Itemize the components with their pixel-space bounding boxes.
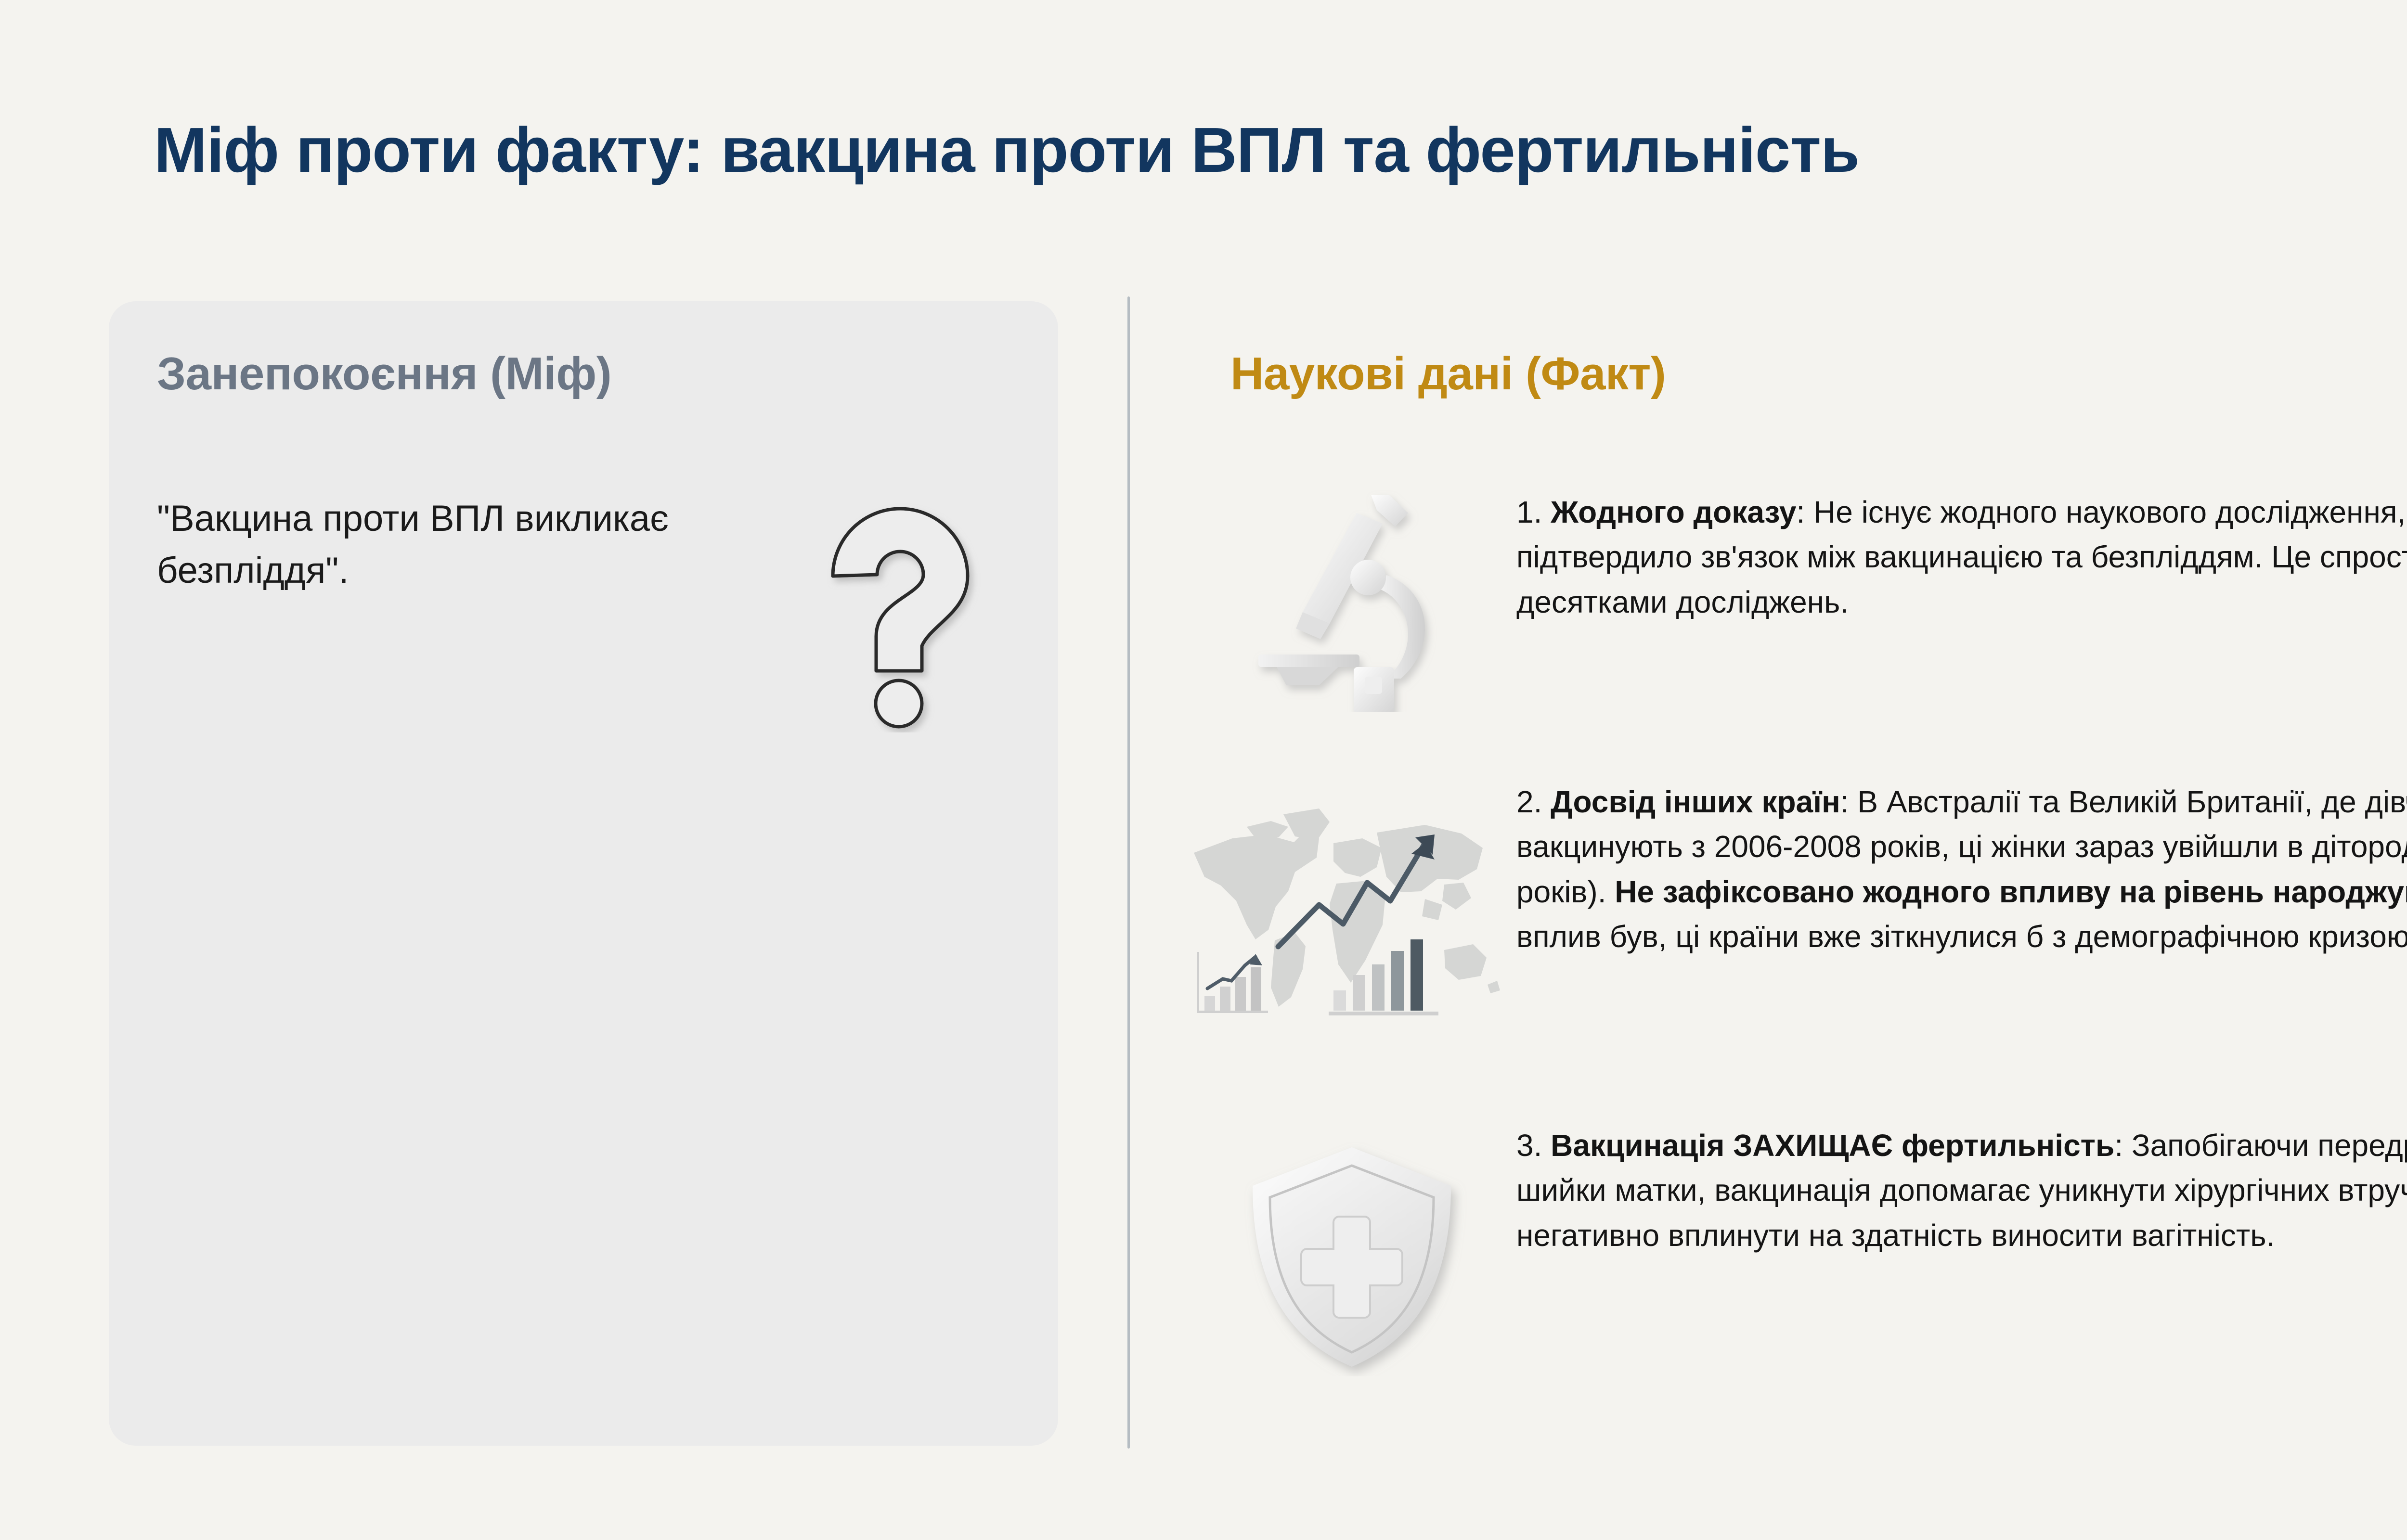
fact-item-1: 1. Жодного доказу: Не існує жодного наук… (1160, 486, 2407, 717)
microscope-icon (1160, 486, 1516, 717)
fact-2-text: 2. Досвід інших країн: В Австралії та Ве… (1516, 776, 2407, 960)
fact-2-number: 2. (1516, 784, 1542, 819)
infographic-page: Міф проти факту: вакцина проти ВПЛ та фе… (0, 0, 2407, 1540)
fact-3-number: 3. (1516, 1128, 1542, 1163)
myth-heading: Занепокоєння (Міф) (157, 347, 611, 400)
myth-quote-text: "Вакцина проти ВПЛ викликає безпліддя". (157, 493, 759, 597)
myth-card (109, 301, 1058, 1446)
fact-heading: Наукові дані (Факт) (1230, 347, 1666, 400)
fact-2-emphasis: Не зафіксовано жодного впливу на рівень … (1615, 874, 2407, 909)
column-divider (1127, 296, 1130, 1449)
fact-1-lead: Жодного доказу (1551, 495, 1796, 529)
page-title: Міф проти факту: вакцина проти ВПЛ та фе… (154, 115, 2407, 186)
fact-2-lead: Досвід інших країн (1551, 784, 1840, 819)
fact-3-lead: Вакцинація ЗАХИЩАЄ фертильність (1551, 1128, 2114, 1163)
fact-3-text: 3. Вакцинація ЗАХИЩАЄ фертильність: Запо… (1516, 1119, 2407, 1258)
question-mark-icon (814, 492, 1016, 732)
world-map-growth-chart-icon (1160, 776, 1516, 1045)
fact-1-number: 1. (1516, 495, 1542, 529)
fact-item-2: 2. Досвід інших країн: В Австралії та Ве… (1160, 776, 2407, 1045)
fact-item-3: 3. Вакцинація ЗАХИЩАЄ фертильність: Запо… (1160, 1119, 2407, 1370)
shield-medical-cross-icon (1160, 1119, 1516, 1370)
fact-1-text: 1. Жодного доказу: Не існує жодного наук… (1516, 486, 2407, 625)
